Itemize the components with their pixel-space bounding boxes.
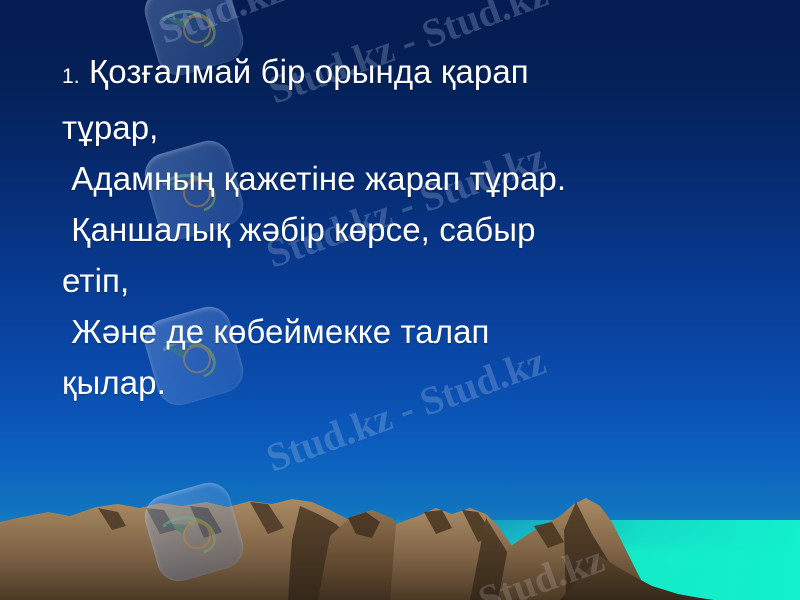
poem-line-2: тұрар,: [62, 102, 762, 153]
mountain-range: [0, 490, 800, 600]
presentation-slide: Stud.kz Stud.kz - Stud.kz Stud.kz - Stud…: [0, 0, 800, 600]
poem-line-text: Қозғалмай бір орында қарап: [80, 53, 529, 90]
slide-body-text: 1. Қозғалмай бір орында қарап тұрар, Ада…: [62, 46, 762, 408]
poem-line-6: Және де көбеймекке талап: [62, 306, 762, 357]
poem-line-1: 1. Қозғалмай бір орында қарап: [62, 46, 762, 102]
list-number: 1.: [62, 65, 80, 88]
poem-line-7: қылар.: [62, 357, 762, 408]
poem-line-4: Қаншалық жәбір көрсе, сабыр: [62, 204, 762, 255]
poem-line-5: етіп,: [62, 255, 762, 306]
poem-line-3: Адамның қажетіне жарап тұрар.: [62, 153, 762, 204]
